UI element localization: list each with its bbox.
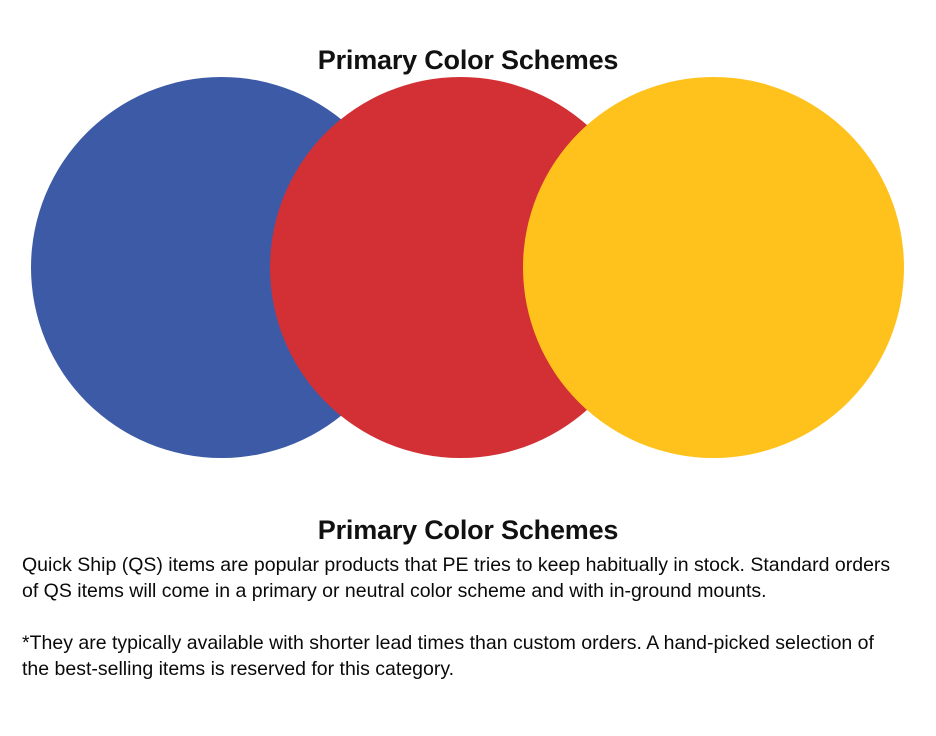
diagram-caption: Primary Color Schemes [0, 514, 936, 546]
color-scheme-diagram [0, 0, 936, 478]
page-root: Primary Color Schemes Primary Color Sche… [0, 0, 936, 736]
paragraph-lead-times-note: *They are typically available with short… [22, 630, 902, 682]
body-copy: Quick Ship (QS) items are popular produc… [22, 552, 902, 682]
circle-primary-yellow [523, 77, 904, 458]
paragraph-quick-ship: Quick Ship (QS) items are popular produc… [22, 552, 902, 604]
